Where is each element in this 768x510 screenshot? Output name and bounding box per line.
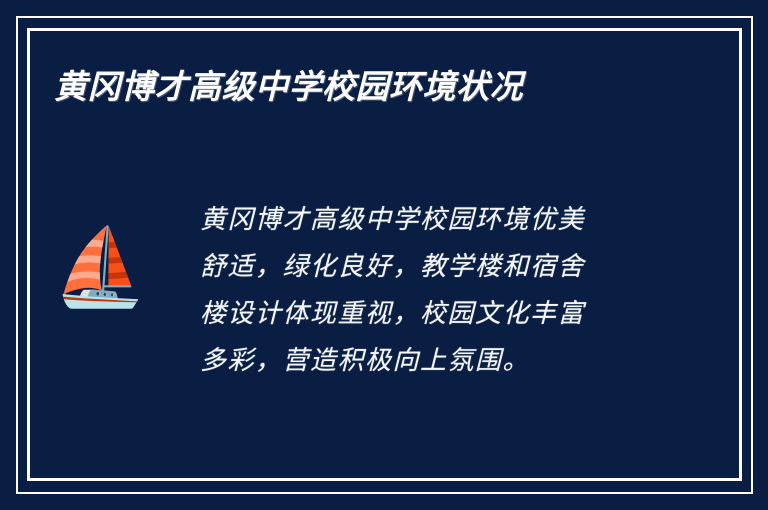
illustration-area: ⛵: [0, 196, 200, 306]
body-line: 楼设计体现重视，校园文化丰富: [200, 290, 668, 337]
content-row: ⛵ 黄冈博才高级中学校园环境优美 舒适，绿化良好，教学楼和宿舍 楼设计体现重视，…: [0, 196, 768, 384]
poster-canvas: 黄冈博才高级中学校园环境状况 ⛵ 黄冈博才高级中学校园环境优美 舒适，绿化良好，…: [0, 0, 768, 510]
body-line: 舒适，绿化良好，教学楼和宿舍: [200, 243, 668, 290]
body-paragraph: 黄冈博才高级中学校园环境优美 舒适，绿化良好，教学楼和宿舍 楼设计体现重视，校园…: [200, 196, 768, 384]
body-line: 黄冈博才高级中学校园环境优美: [200, 196, 668, 243]
page-title: 黄冈博才高级中学校园环境状况: [54, 66, 523, 108]
sailboat-icon: ⛵: [53, 230, 148, 306]
body-line: 多彩，营造积极向上氛围。: [200, 337, 668, 384]
